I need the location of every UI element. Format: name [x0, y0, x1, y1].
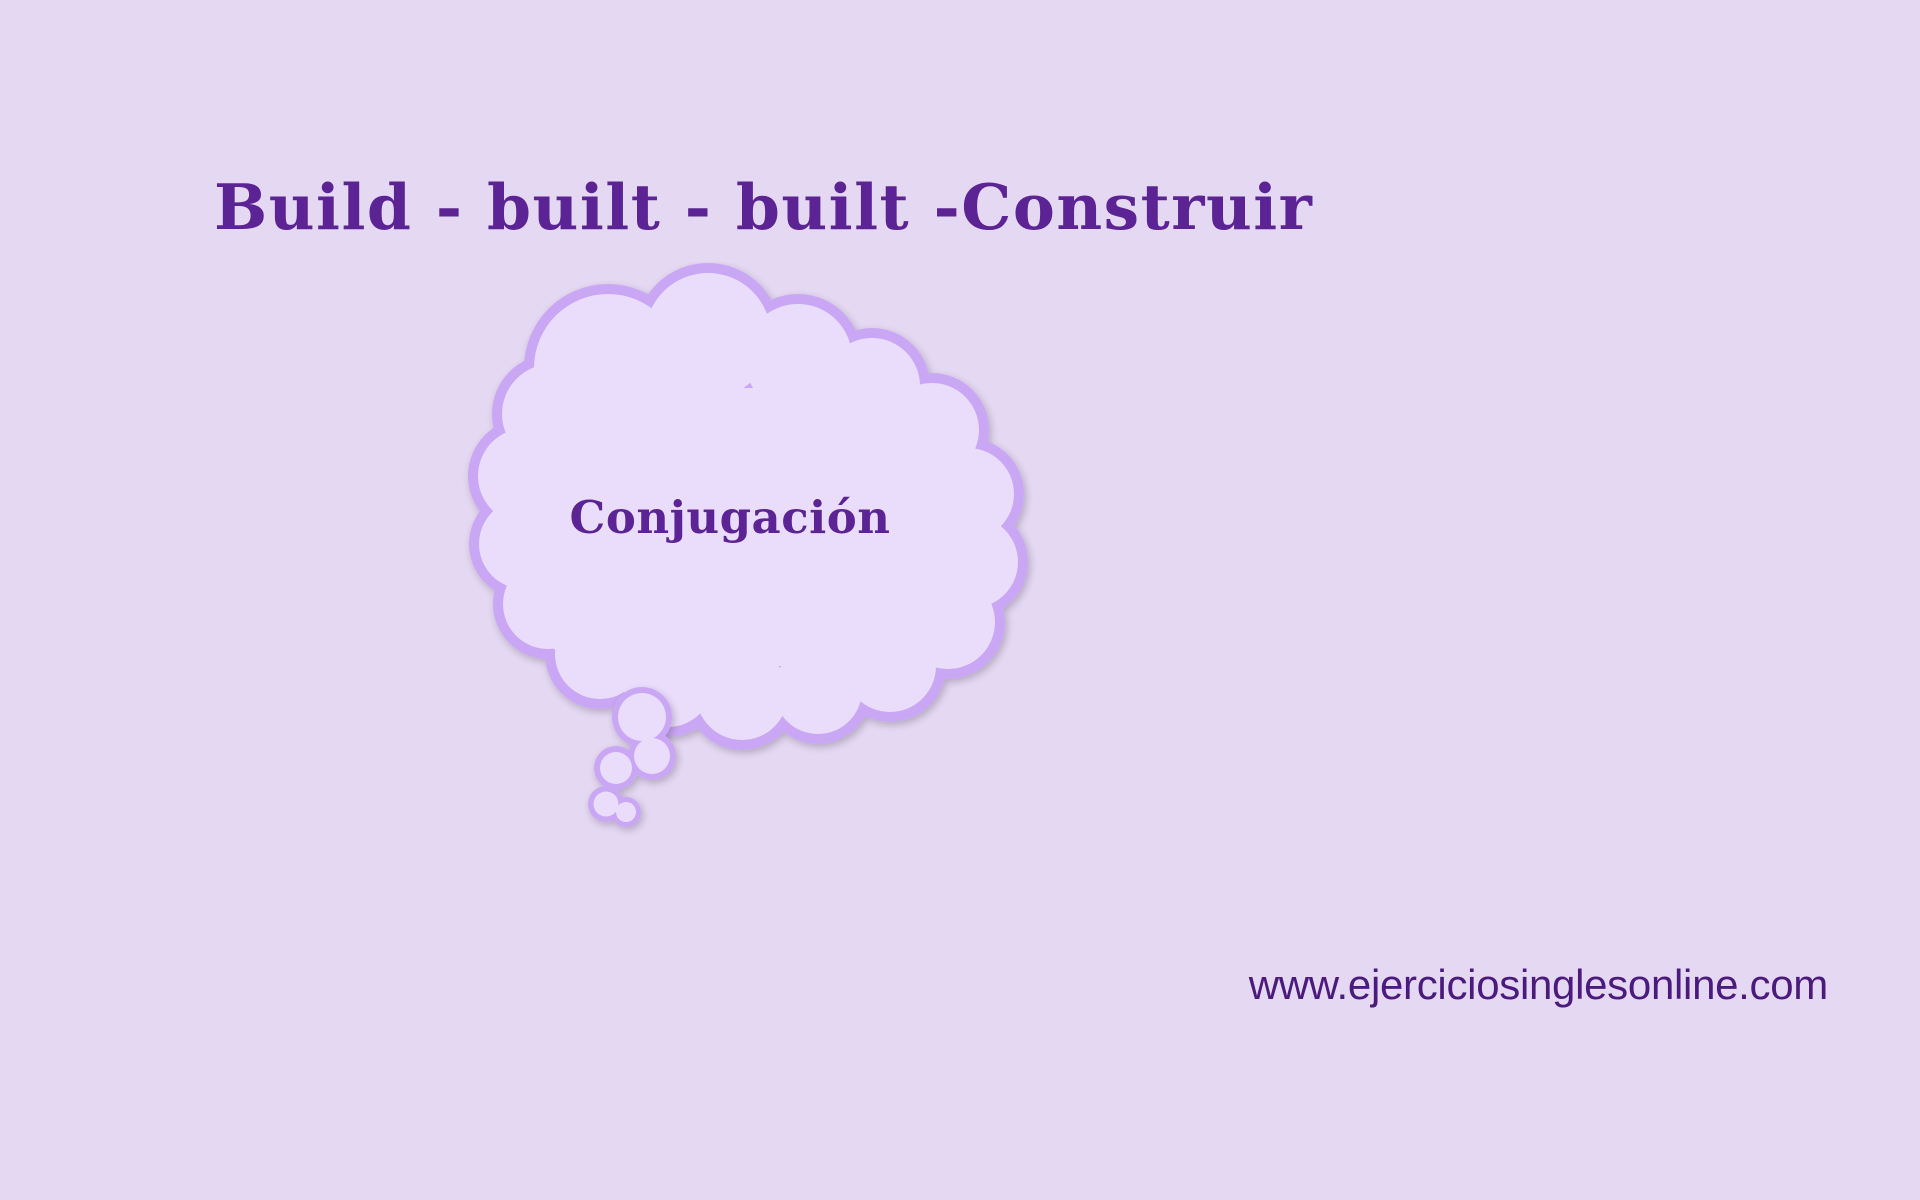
- site-url: www.ejerciciosinglesonline.com: [1249, 961, 1828, 1009]
- bubble-cloud-group: [468, 263, 1028, 750]
- thought-bubble-shape: [420, 262, 1040, 842]
- slide-canvas: Build - built - built -Construir: [0, 0, 1920, 1200]
- page-title: Build - built - built -Construir: [214, 174, 1214, 240]
- thought-bubble: Conjugación: [420, 262, 1040, 842]
